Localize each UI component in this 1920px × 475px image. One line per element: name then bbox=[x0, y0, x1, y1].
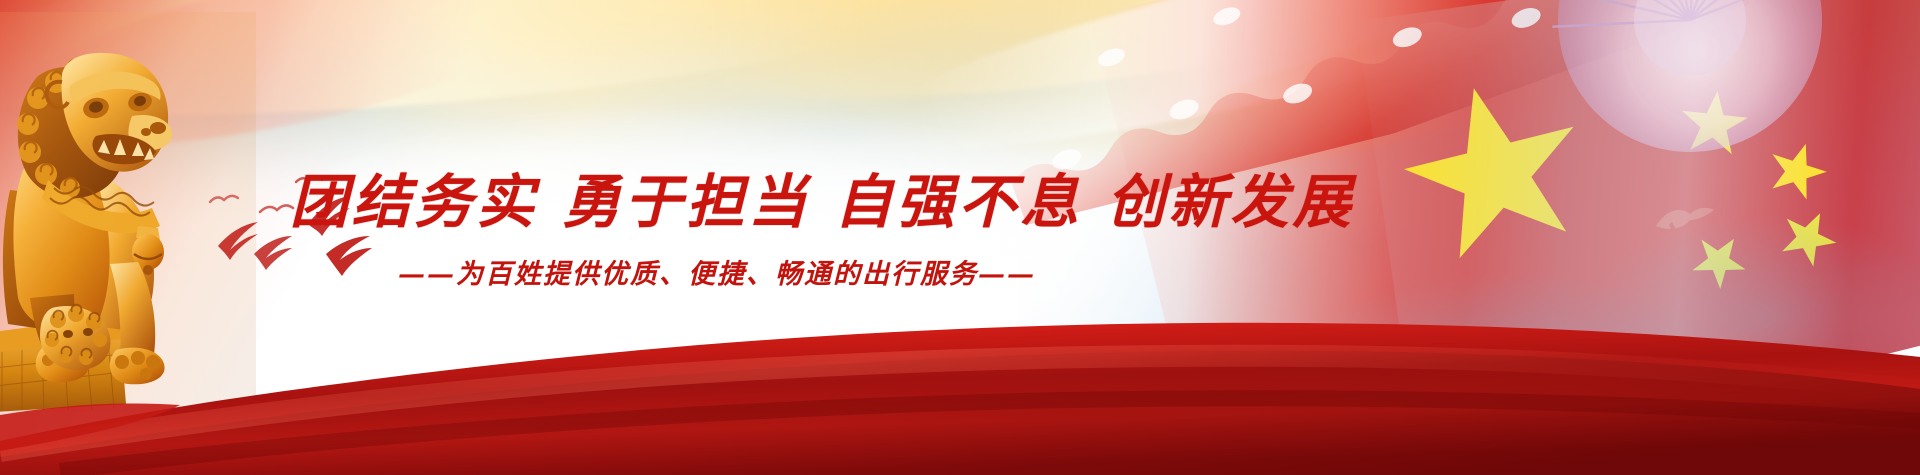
banner-text-block: 团结务实 勇于担当 自强不息 创新发展 ——为百姓提供优质、便捷、畅通的出行服务… bbox=[0, 0, 1920, 475]
banner-subtitle: ——为百姓提供优质、便捷、畅通的出行服务—— bbox=[398, 252, 1036, 291]
banner-headline: 团结务实 勇于担当 自强不息 创新发展 bbox=[290, 155, 1355, 239]
banner-root: 团结务实 勇于担当 自强不息 创新发展 ——为百姓提供优质、便捷、畅通的出行服务… bbox=[0, 0, 1920, 475]
